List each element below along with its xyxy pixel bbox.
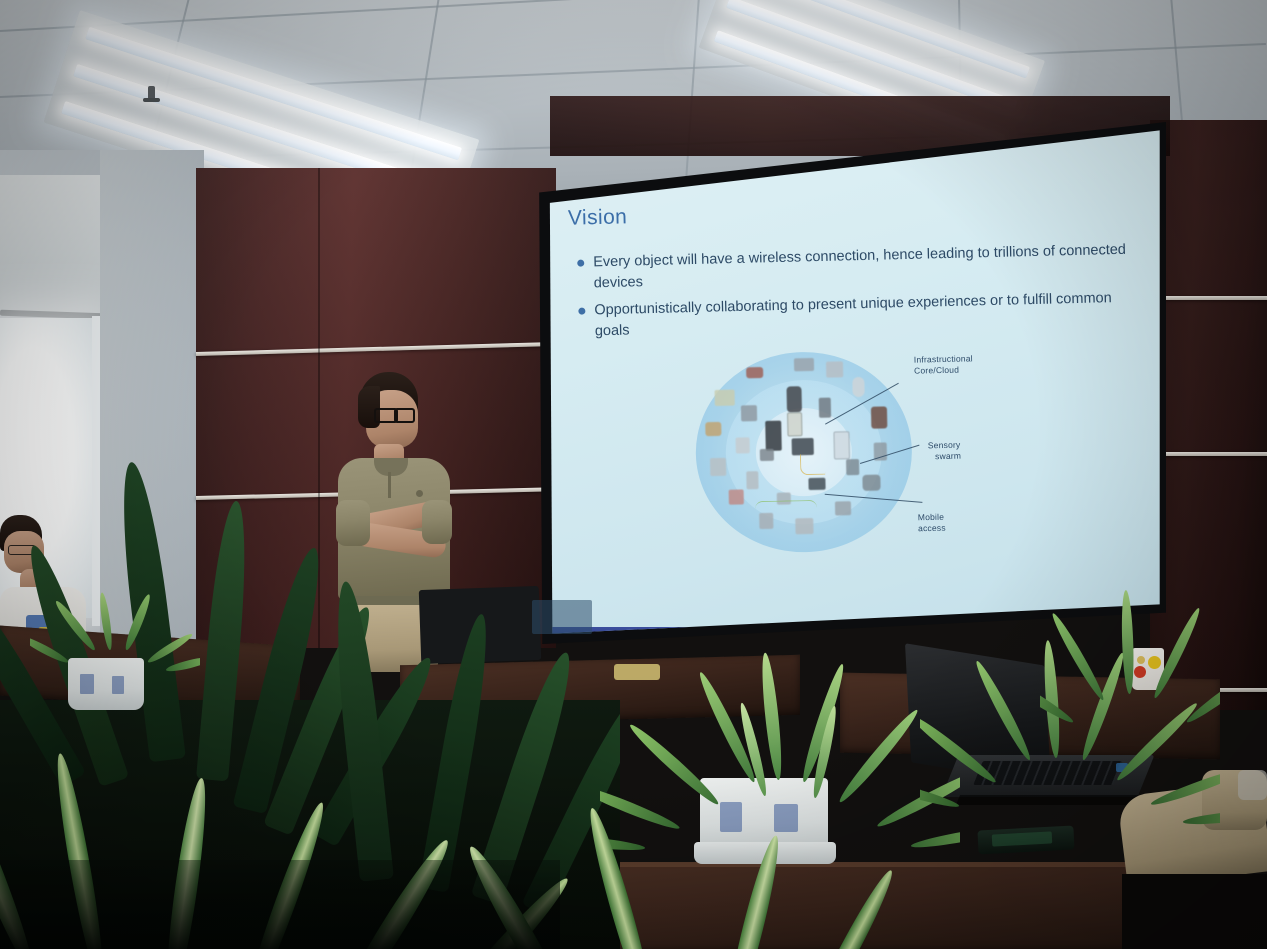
device-icon bbox=[819, 398, 831, 418]
plant-spider-left bbox=[30, 588, 200, 678]
slide-bullet-list: Every object will have a wireless connec… bbox=[577, 239, 1149, 342]
slide-bullet-1-text: Every object will have a wireless connec… bbox=[593, 239, 1146, 294]
callout-line2: Core/Cloud bbox=[914, 365, 973, 378]
callout-line1: Mobile bbox=[918, 512, 946, 524]
iot-ring-diagram bbox=[694, 350, 928, 570]
audience-right-shadow bbox=[1122, 874, 1267, 949]
slide-bullet-1: Every object will have a wireless connec… bbox=[577, 239, 1148, 294]
device-icon bbox=[729, 489, 744, 504]
audience-right-shirt bbox=[1238, 770, 1267, 800]
device-icon bbox=[795, 518, 813, 534]
connector-wire bbox=[755, 500, 817, 516]
device-icon bbox=[710, 458, 726, 476]
device-icon bbox=[852, 377, 864, 397]
projection-screen[interactable]: Vision Every object will have a wireless… bbox=[536, 122, 1166, 644]
callout-line2: access bbox=[918, 523, 946, 535]
callout-label-sensory-swarm: Sensory swarm bbox=[928, 440, 962, 464]
device-icon bbox=[746, 367, 763, 378]
bullet-dot-icon bbox=[578, 308, 585, 315]
callout-label-infrastructional-core-cloud: Infrastructional Core/Cloud bbox=[914, 353, 973, 377]
device-icon bbox=[862, 475, 880, 491]
slide-surface: Vision Every object will have a wireless… bbox=[536, 122, 1166, 644]
smartphone-icon bbox=[833, 431, 850, 459]
glasses-icon bbox=[394, 408, 415, 423]
callout-line2: swarm bbox=[928, 451, 961, 463]
device-icon bbox=[871, 406, 887, 428]
slide-title: Vision bbox=[568, 205, 628, 230]
slide-bullet-2: Opportunistically collaborating to prese… bbox=[578, 287, 1149, 342]
device-icon bbox=[835, 501, 851, 515]
plant-spider-far-right bbox=[1040, 590, 1220, 750]
callout-label-mobile-access: Mobile access bbox=[918, 512, 946, 536]
foreground-shadow bbox=[0, 860, 560, 949]
presentation-room-photo: Vision Every object will have a wireless… bbox=[0, 0, 1267, 949]
device-icon bbox=[741, 405, 757, 421]
device-icon bbox=[715, 390, 735, 406]
callout-line1: Sensory bbox=[928, 440, 961, 452]
device-icon bbox=[746, 471, 758, 489]
device-icon bbox=[786, 386, 802, 412]
sprinkler-head-icon bbox=[148, 86, 155, 102]
device-icon bbox=[826, 361, 843, 377]
bullet-dot-icon bbox=[577, 260, 584, 267]
robot-icon bbox=[846, 459, 859, 475]
device-icon bbox=[787, 412, 802, 436]
monitor-icon bbox=[792, 438, 814, 455]
connector-wire bbox=[800, 454, 825, 476]
server-icon bbox=[765, 421, 782, 451]
callout-line1: Infrastructional bbox=[914, 353, 973, 366]
slide-bullet-2-text: Opportunistically collaborating to prese… bbox=[594, 287, 1147, 342]
device-icon bbox=[760, 449, 774, 461]
laptop-icon bbox=[808, 478, 825, 490]
device-icon bbox=[705, 422, 721, 436]
device-icon bbox=[794, 358, 814, 371]
device-icon bbox=[736, 437, 750, 453]
